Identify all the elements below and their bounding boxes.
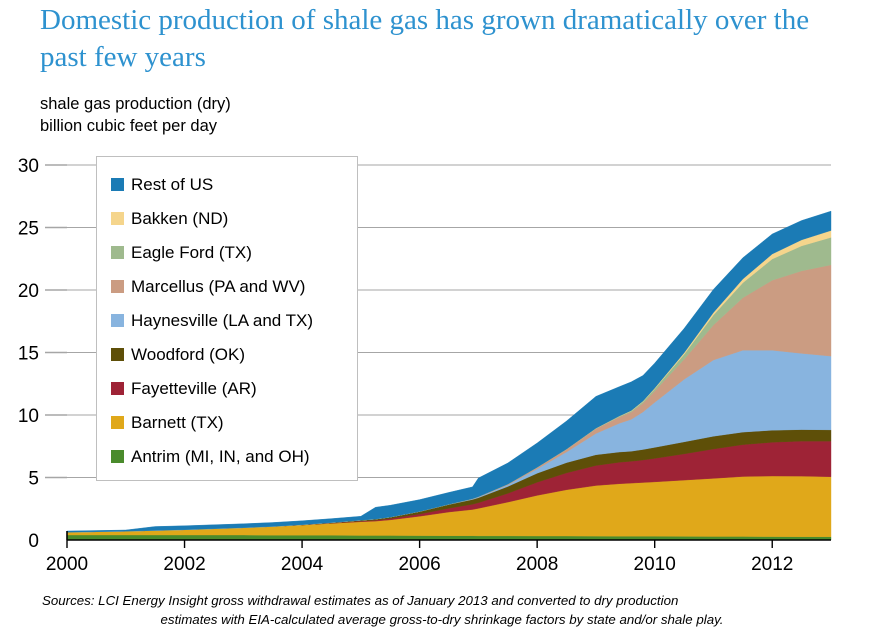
legend-item[interactable]: Bakken (ND)	[111, 201, 357, 235]
y-axis-tick-labels: 051015202530	[18, 156, 39, 552]
y-axis-tick-label: 10	[18, 406, 39, 427]
legend-swatch-icon	[111, 314, 124, 327]
legend-item[interactable]: Barnett (TX)	[111, 405, 357, 439]
x-axis-tick-label: 2002	[163, 554, 205, 575]
chart-subtitle: shale gas production (dry) billion cubic…	[40, 93, 231, 137]
legend-item[interactable]: Antrim (MI, IN, and OH)	[111, 439, 357, 473]
x-axis-tick-label: 2004	[281, 554, 324, 575]
legend-item-label: Woodford (OK)	[131, 346, 245, 363]
legend-item-label: Rest of US	[131, 176, 213, 193]
y-axis-tick-label: 0	[28, 531, 39, 552]
subtitle-line-1: shale gas production (dry)	[40, 93, 231, 115]
legend-swatch-icon	[111, 212, 124, 225]
page-title: Domestic production of shale gas has gro…	[40, 2, 855, 76]
y-axis-tick-label: 25	[18, 219, 39, 240]
x-axis-tick-label: 2006	[398, 554, 440, 575]
chart-legend: Rest of USBakken (ND)Eagle Ford (TX)Marc…	[96, 156, 358, 481]
legend-swatch-icon	[111, 450, 124, 463]
legend-item-label: Marcellus (PA and WV)	[131, 278, 305, 295]
x-axis-tick-label: 2010	[634, 554, 676, 575]
legend-item-label: Bakken (ND)	[131, 210, 228, 227]
x-axis-tick-label: 2000	[46, 554, 88, 575]
legend-item-label: Haynesville (LA and TX)	[131, 312, 313, 329]
y-axis-tick-label: 15	[18, 344, 39, 365]
y-axis-tick-label: 5	[28, 469, 39, 490]
x-axis-tick-label: 2012	[751, 554, 793, 575]
legend-swatch-icon	[111, 416, 124, 429]
y-axis-tick-label: 30	[18, 156, 39, 177]
source-note: Sources: LCI Energy Insight gross withdr…	[42, 591, 842, 629]
legend-item-label: Barnett (TX)	[131, 414, 224, 431]
legend-item[interactable]: Woodford (OK)	[111, 337, 357, 371]
legend-swatch-icon	[111, 178, 124, 191]
legend-swatch-icon	[111, 382, 124, 395]
legend-item[interactable]: Eagle Ford (TX)	[111, 235, 357, 269]
legend-item-label: Antrim (MI, IN, and OH)	[131, 448, 310, 465]
y-axis-tick-label: 20	[18, 281, 39, 302]
legend-swatch-icon	[111, 348, 124, 361]
y-tick-marks	[45, 165, 67, 478]
legend-item[interactable]: Rest of US	[111, 167, 357, 201]
legend-swatch-icon	[111, 246, 124, 259]
legend-item-label: Eagle Ford (TX)	[131, 244, 252, 261]
legend-item[interactable]: Marcellus (PA and WV)	[111, 269, 357, 303]
legend-item[interactable]: Haynesville (LA and TX)	[111, 303, 357, 337]
subtitle-line-2: billion cubic feet per day	[40, 115, 231, 137]
legend-item-label: Fayetteville (AR)	[131, 380, 257, 397]
legend-swatch-icon	[111, 280, 124, 293]
x-axis-tick-label: 2008	[516, 554, 558, 575]
source-note-line-1: Sources: LCI Energy Insight gross withdr…	[42, 591, 842, 610]
legend-item[interactable]: Fayetteville (AR)	[111, 371, 357, 405]
source-note-line-2: estimates with EIA-calculated average gr…	[42, 610, 842, 629]
x-axis-tick-labels: 2000200220042006200820102012	[46, 554, 794, 575]
x-tick-marks	[67, 540, 772, 548]
